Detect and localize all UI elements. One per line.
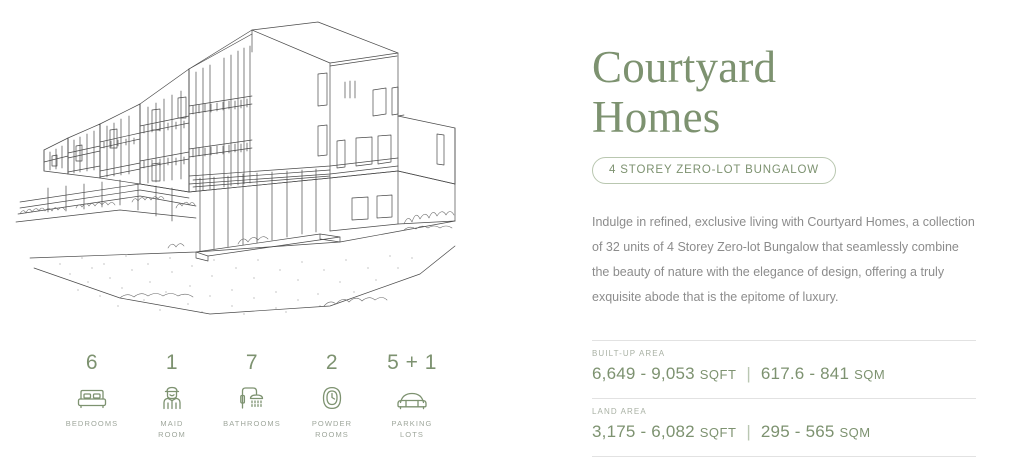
stat-maid-room-value: 1 <box>166 352 178 373</box>
stat-powder-rooms-value: 2 <box>326 352 338 373</box>
land-imperial-unit: SQFT <box>700 425 737 440</box>
mirror-icon <box>321 384 343 410</box>
bed-icon <box>77 384 107 410</box>
property-type-badge: 4 STOREY ZERO-LOT BUNGALOW <box>592 157 836 184</box>
property-description: Indulge in refined, exclusive living wit… <box>592 210 976 310</box>
built-up-imperial-value: 6,649 - 9,053 <box>592 364 695 383</box>
illustration-column: 6 BEDROOMS 1 <box>0 0 560 476</box>
spec-label-built-up-area: BUILT-UP AREA <box>592 349 976 358</box>
spec-label-land-area: LAND AREA <box>592 407 976 416</box>
spec-value-land-area: 3,175 - 6,082 SQFT | 295 - 565 SQM <box>592 421 976 443</box>
details-column: Courtyard Homes 4 STOREY ZERO-LOT BUNGAL… <box>560 0 1024 476</box>
land-imperial-value: 3,175 - 6,082 <box>592 422 695 441</box>
built-up-metric-unit: SQM <box>854 367 885 382</box>
stat-parking-lots: 5 + 1 PARKING LOTS <box>372 352 452 441</box>
stat-bedrooms: 6 BEDROOMS <box>52 352 132 430</box>
built-up-imperial-unit: SQFT <box>700 367 737 382</box>
shower-icon <box>239 384 265 410</box>
stat-bedrooms-value: 6 <box>86 352 98 373</box>
built-up-separator: | <box>741 364 756 383</box>
spec-row-built-up-area: BUILT-UP AREA 6,649 - 9,053 SQFT | 617.6… <box>592 341 976 385</box>
stat-bathrooms-value: 7 <box>246 352 258 373</box>
specifications-block: BUILT-UP AREA 6,649 - 9,053 SQFT | 617.6… <box>592 340 976 457</box>
land-metric-value: 295 - 565 <box>761 422 835 441</box>
stat-maid-room-label: MAID ROOM <box>158 419 186 441</box>
stat-bathrooms: 7 BATHROOMS <box>212 352 292 430</box>
stat-bedrooms-label: BEDROOMS <box>66 419 119 430</box>
car-icon <box>396 384 428 410</box>
land-metric-unit: SQM <box>839 425 870 440</box>
built-up-metric-value: 617.6 - 841 <box>761 364 849 383</box>
stat-parking-lots-label: PARKING LOTS <box>392 419 433 441</box>
spec-value-built-up-area: 6,649 - 9,053 SQFT | 617.6 - 841 SQM <box>592 363 976 385</box>
page-title: Courtyard Homes <box>592 42 976 143</box>
stat-powder-rooms-label: POWDER ROOMS <box>312 419 352 441</box>
land-separator: | <box>741 422 756 441</box>
spec-divider-bottom <box>592 456 976 457</box>
architectural-sketch-illustration <box>0 6 500 336</box>
stat-maid-room: 1 MAID ROOM <box>132 352 212 441</box>
property-listing-page: 6 BEDROOMS 1 <box>0 0 1024 476</box>
stat-bathrooms-label: BATHROOMS <box>223 419 281 430</box>
maid-icon <box>161 384 183 410</box>
spec-row-land-area: LAND AREA 3,175 - 6,082 SQFT | 295 - 565… <box>592 399 976 443</box>
property-stats-row: 6 BEDROOMS 1 <box>52 352 452 441</box>
stat-parking-lots-value: 5 + 1 <box>387 352 437 373</box>
stat-powder-rooms: 2 POWDER ROOMS <box>292 352 372 441</box>
